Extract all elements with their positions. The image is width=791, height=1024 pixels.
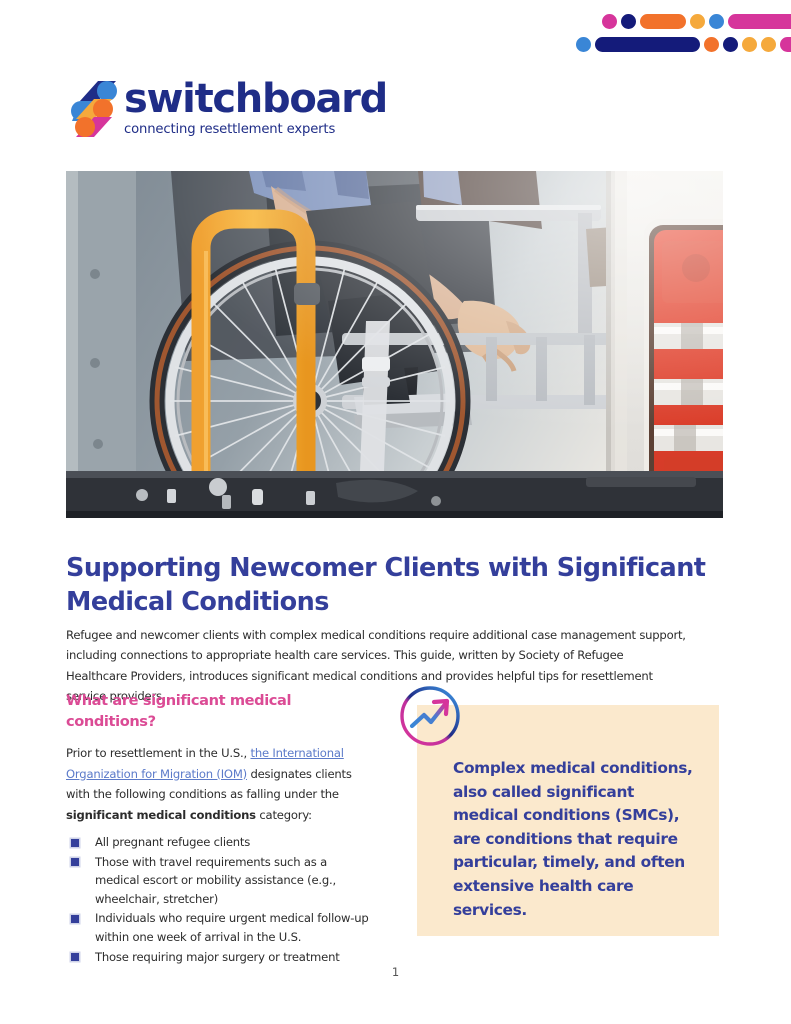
list-item-label: Individuals who require urgent medical f… bbox=[95, 911, 369, 944]
square-bullet-icon bbox=[71, 915, 79, 923]
logo-wordmark: switchboard connecting resettlement expe… bbox=[124, 77, 358, 137]
decoration-dot bbox=[761, 37, 776, 52]
circular-zigzag-arrow-icon bbox=[398, 684, 462, 748]
document-page: switchboard connecting resettlement expe… bbox=[0, 0, 791, 1024]
decoration-pill bbox=[780, 37, 791, 52]
page-title: Supporting Newcomer Clients with Signifi… bbox=[66, 551, 714, 619]
lead-text-tail: category: bbox=[256, 808, 312, 822]
definition-callout-box: Complex medical conditions, also called … bbox=[417, 705, 719, 936]
decoration-dot bbox=[690, 14, 705, 29]
callout-text: Complex medical conditions, also called … bbox=[453, 757, 693, 922]
decoration-pill bbox=[595, 37, 700, 52]
wheelchair-vehicle-lift-photo bbox=[66, 171, 723, 518]
section-lead-paragraph: Prior to resettlement in the U.S., the I… bbox=[66, 743, 373, 825]
decoration-pill bbox=[640, 14, 686, 29]
list-item-label: Those with travel requirements such as a… bbox=[95, 855, 336, 906]
list-item: Those with travel requirements such as a… bbox=[66, 853, 373, 909]
decorative-dot-ribbon bbox=[576, 14, 791, 62]
lead-text-before-link: Prior to resettlement in the U.S., bbox=[66, 746, 250, 760]
list-item: All pregnant refugee clients bbox=[66, 833, 373, 852]
square-bullet-icon bbox=[71, 839, 79, 847]
lead-bold-term: significant medical conditions bbox=[66, 808, 256, 822]
smc-conditions-list: All pregnant refugee clients Those with … bbox=[66, 833, 373, 966]
decoration-row-1 bbox=[602, 14, 791, 29]
list-item: Those requiring major surgery or treatme… bbox=[66, 948, 373, 967]
decoration-dot bbox=[621, 14, 636, 29]
switchboard-logo[interactable]: switchboard connecting resettlement expe… bbox=[68, 77, 358, 141]
decoration-dot bbox=[742, 37, 757, 52]
switchboard-arrows-logomark bbox=[68, 79, 124, 139]
list-item-label: Those requiring major surgery or treatme… bbox=[95, 950, 340, 964]
section-heading: What are significant medical conditions? bbox=[66, 690, 373, 732]
left-content-column: What are significant medical conditions?… bbox=[66, 690, 373, 967]
decoration-dot bbox=[709, 14, 724, 29]
logo-word: switchboard bbox=[124, 77, 358, 121]
list-item: Individuals who require urgent medical f… bbox=[66, 909, 373, 946]
list-item-label: All pregnant refugee clients bbox=[95, 835, 250, 849]
decoration-dot bbox=[704, 37, 719, 52]
decoration-row-2 bbox=[576, 37, 791, 52]
square-bullet-icon bbox=[71, 953, 79, 961]
decoration-dot bbox=[602, 14, 617, 29]
logo-tagline: connecting resettlement experts bbox=[124, 122, 358, 137]
decoration-dot bbox=[723, 37, 738, 52]
decoration-pill bbox=[728, 14, 791, 29]
decoration-dot bbox=[576, 37, 591, 52]
square-bullet-icon bbox=[71, 858, 79, 866]
page-number: 1 bbox=[0, 965, 791, 979]
